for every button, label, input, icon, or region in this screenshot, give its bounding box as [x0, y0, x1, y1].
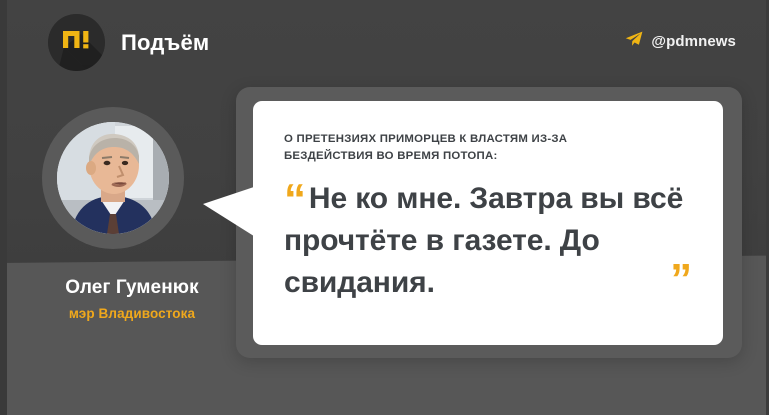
quote-content: О ПРЕТЕНЗИЯХ ПРИМОРЦЕВ К ВЛАСТЯМ ИЗ-ЗА Б… — [284, 131, 698, 304]
person-info: Олег Гуменюк мэр Владивостока — [32, 277, 232, 321]
telegram-plane-icon — [625, 31, 643, 52]
brand-header: Подъём — [48, 14, 209, 71]
podyom-logo-icon — [48, 14, 105, 71]
avatar — [42, 107, 184, 249]
left-edge-strip — [0, 0, 7, 415]
quote-card-image: Подъём @pdmnews О ПРЕТЕНЗИЯХ ПРИМОРЦЕВ К… — [0, 0, 769, 415]
brand-name: Подъём — [121, 30, 209, 56]
telegram-handle[interactable]: @pdmnews — [625, 31, 736, 52]
quote-kicker: О ПРЕТЕНЗИЯХ ПРИМОРЦЕВ К ВЛАСТЯМ ИЗ-ЗА Б… — [284, 131, 659, 165]
person-portrait-photo — [57, 122, 169, 234]
person-role: мэр Владивостока — [32, 306, 232, 321]
telegram-handle-text: @pdmnews — [651, 33, 736, 50]
speech-bubble-tail — [201, 186, 257, 252]
quote-text-block: “Не ко мне. Завтра вы всё прочтёте в газ… — [284, 178, 698, 304]
person-name: Олег Гуменюк — [32, 277, 232, 299]
quote-text: Не ко мне. Завтра вы всё прочтёте в газе… — [284, 182, 683, 299]
closing-quote-mark: ” — [670, 258, 692, 302]
